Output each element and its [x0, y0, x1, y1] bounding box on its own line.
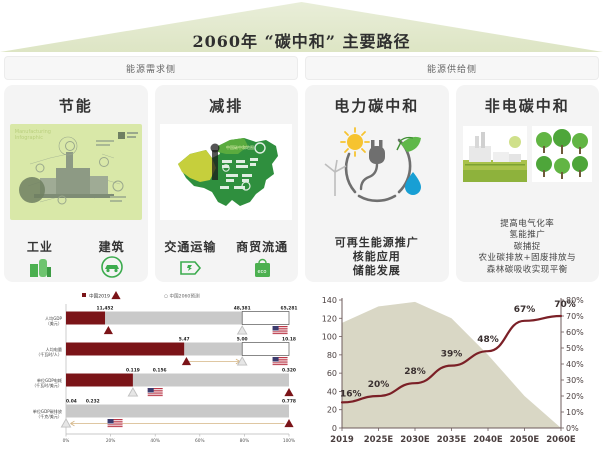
data-point-label: 48% [477, 335, 499, 345]
y2-tick-label: 40% [566, 360, 584, 369]
y-tick-label: 60 [327, 369, 337, 378]
panel-title-power-carbon-neutral: 电力碳中和 [334, 95, 419, 116]
water-drop-icon [405, 172, 421, 195]
panel3-line-1: 可再生能源推广 [305, 236, 449, 250]
us-flag-icon [273, 357, 288, 366]
panel-item-industry-label: 工业 [27, 238, 53, 255]
panel-item-transport[interactable]: 交通运输 [164, 238, 216, 278]
right-electrification-chart[interactable]: 0204060801001201400%10%20%30%40%50%60%70… [306, 286, 599, 452]
data-point-label: 16% [340, 389, 362, 399]
chart-legend: 中国2019○ 中国2060预测 [82, 291, 200, 300]
panel-nonpower-carbon-neutral[interactable]: 非电碳中和 [456, 85, 600, 282]
x-tick-label: 2019 [330, 435, 354, 445]
x-tick-label: 60% [195, 438, 205, 444]
y-tick-label: 0 [332, 424, 337, 433]
panel-item-transport-label: 交通运输 [164, 238, 216, 255]
panel4-line-3: 碳捕捉 [456, 242, 600, 254]
svg-text:0.232: 0.232 [86, 399, 100, 405]
farm-and-trees-art [460, 126, 594, 184]
subheader-row: 能源需求侧 能源供给侧 [4, 56, 599, 80]
panel4-line-2: 氢能推广 [456, 230, 600, 242]
panel-item-commerce[interactable]: 商贸流通 eco [236, 238, 288, 278]
x-tick-label: 0% [63, 438, 70, 444]
marker-reference [128, 388, 137, 396]
panel4-text-lines: 提高电气化率 氢能推广 碳捕捉 农业碳排放+固废排放与 森林碳吸收实现平衡 [456, 219, 600, 277]
svg-text:11,452: 11,452 [97, 306, 114, 312]
svg-text:（千瓦时/美元）: （千瓦时/美元） [32, 382, 62, 388]
marker-reference [238, 326, 247, 334]
svg-text:○ 中国2060预测: ○ 中国2060预测 [164, 293, 200, 300]
y2-tick-label: 10% [566, 408, 584, 417]
panel-power-carbon-neutral[interactable]: 电力碳中和 [305, 85, 449, 282]
svg-text:0.119: 0.119 [126, 368, 140, 374]
svg-text:中国碳中和地图: 中国碳中和地图 [226, 144, 254, 150]
svg-text:0.156: 0.156 [153, 368, 167, 374]
title-band: 2060年 “碳中和” 主要路径 [0, 2, 603, 52]
panel-item-building[interactable]: 建筑 [99, 238, 125, 278]
us-flag-icon [148, 388, 163, 397]
panel3-line-3: 储能发展 [305, 264, 449, 278]
panel-row: 节能 Manufacturing Infographic [4, 85, 599, 282]
svg-text:0.320: 0.320 [282, 368, 296, 374]
eco-bag-icon: eco [249, 256, 275, 278]
marker-china-2060 [284, 419, 293, 427]
y2-tick-label: 70% [566, 312, 584, 321]
factory-infographic-icon: Manufacturing Infographic [10, 124, 142, 220]
svg-text:0.778: 0.778 [282, 399, 296, 405]
x-tick-label: 100% [283, 438, 295, 444]
data-point-label: 70% [554, 300, 576, 310]
y2-tick-label: 30% [566, 376, 584, 385]
y2-tick-label: 50% [566, 344, 584, 353]
y-tick-label: 140 [322, 296, 337, 305]
x-tick-label: 2060E [546, 435, 576, 445]
x-tick-label: 2050E [510, 435, 540, 445]
bar-grey [66, 405, 289, 418]
trees-photo-icon [532, 126, 592, 182]
carbon-neutral-infographic: 2060年 “碳中和” 主要路径 能源需求侧 能源供给侧 节能 Manufact… [0, 0, 603, 452]
svg-text:（千克/美元）: （千克/美元） [36, 413, 62, 419]
y2-tick-label: 20% [566, 392, 584, 401]
sun-icon [341, 128, 369, 156]
y-tick-label: 120 [322, 314, 337, 323]
x-tick-label: 20% [106, 438, 116, 444]
data-point-label: 20% [368, 380, 390, 390]
svg-text:5.00: 5.00 [237, 337, 248, 343]
svg-text:（千瓦时/人）: （千瓦时/人） [36, 351, 62, 357]
panel4-line-4: 农业碳排放+固废排放与 [456, 253, 600, 265]
x-tick-label: 2040E [473, 435, 503, 445]
x-tick-label: 2025E [364, 435, 394, 445]
renewable-cycle-icon [313, 120, 441, 212]
panel4-line-5: 森林碳吸收实现平衡 [456, 265, 600, 277]
bar-value [66, 343, 184, 356]
chart-row: 人均GDP（美元）11,45248,38165,281 [45, 306, 297, 336]
panel-item-building-label: 建筑 [99, 238, 125, 255]
panel3-text-lines: 可再生能源推广 核能应用 储能发展 [305, 236, 449, 278]
marker-china-2060 [182, 357, 191, 365]
bar-value [66, 312, 105, 325]
charts-row: 中国2019○ 中国2060预测人均GDP（美元）11,45248,38165,… [0, 286, 603, 452]
x-tick-label: 80% [240, 438, 250, 444]
y-tick-label: 80 [327, 351, 337, 360]
us-flag-icon [108, 419, 123, 428]
green-car-icon [99, 256, 125, 278]
panel2-item-row: 交通运输 商贸流通 eco [155, 238, 299, 278]
china-map-icon: 中国碳中和地图 [160, 124, 292, 220]
chart-row: 人均电量（千瓦时/人）5.475.0010.18 [36, 337, 296, 367]
panel-title-energy-saving: 节能 [59, 95, 93, 116]
subheader-supply-label: 能源供给侧 [427, 62, 477, 75]
panel-energy-saving[interactable]: 节能 Manufacturing Infographic [4, 85, 148, 282]
data-point-label: 28% [404, 367, 426, 377]
svg-text:5.47: 5.47 [179, 337, 190, 343]
svg-text:eco: eco [258, 269, 267, 275]
plug-icon [361, 140, 385, 189]
svg-text:65,281: 65,281 [281, 306, 298, 312]
factory-icon [27, 256, 53, 278]
y2-tick-label: 0% [566, 424, 579, 433]
panel1-item-row: 工业 建筑 [4, 238, 148, 278]
subheader-demand-side[interactable]: 能源需求侧 [4, 56, 298, 80]
y-tick-label: 40 [327, 387, 337, 396]
svg-text:（美元）: （美元） [46, 320, 62, 326]
subheader-supply-side[interactable]: 能源供给侧 [305, 56, 599, 80]
chart-row: 单位GDP电耗（千瓦时/美元）0.1190.3200.156 [32, 368, 296, 398]
x-tick-label: 40% [150, 438, 160, 444]
us-flag-icon [273, 326, 288, 335]
data-point-label: 39% [441, 350, 463, 360]
panel-item-commerce-label: 商贸流通 [236, 238, 288, 255]
subheader-demand-label: 能源需求侧 [126, 62, 176, 75]
bar-grey [133, 374, 289, 387]
svg-text:中国2019: 中国2019 [89, 293, 110, 300]
chart-row: 单位GDP碳排放（千克/美元）0.040.7780.232 [33, 399, 296, 429]
y-tick-label: 20 [327, 406, 337, 415]
panel3-line-2: 核能应用 [305, 250, 449, 264]
legend-marker-2060 [111, 291, 120, 299]
left-indicator-chart[interactable]: 中国2019○ 中国2060预测人均GDP（美元）11,45248,38165,… [4, 286, 300, 452]
y2-tick-label: 60% [566, 328, 584, 337]
svg-text:10.18: 10.18 [282, 337, 296, 343]
green-factory-photo-icon [463, 126, 527, 182]
page-title: 2060年 “碳中和” 主要路径 [0, 28, 603, 52]
x-tick-label: 2030E [400, 435, 430, 445]
svg-text:48,381: 48,381 [234, 306, 251, 312]
panel-item-industry[interactable]: 工业 [27, 238, 53, 278]
wind-turbine-icon [325, 160, 346, 196]
bar-grey [105, 312, 242, 325]
leaf-icon [397, 137, 421, 152]
svg-text:0.04: 0.04 [66, 399, 77, 405]
panel4-line-1: 提高电气化率 [456, 219, 600, 231]
bar-value [66, 374, 133, 387]
panel-title-nonpower-carbon-neutral: 非电碳中和 [485, 95, 570, 116]
marker-china-2060 [284, 388, 293, 396]
bar-grey [184, 343, 242, 356]
panel-emission-reduction[interactable]: 减排 [155, 85, 299, 282]
recycle-tag-icon [177, 256, 203, 278]
bar-open [242, 312, 289, 325]
panel-title-emission-reduction: 减排 [209, 95, 243, 116]
marker-china-2060 [104, 326, 113, 334]
y-tick-label: 100 [322, 333, 337, 342]
data-point-label: 67% [514, 305, 536, 315]
marker-reference [61, 419, 70, 427]
x-tick-label: 2035E [437, 435, 467, 445]
bar-open [242, 343, 289, 356]
